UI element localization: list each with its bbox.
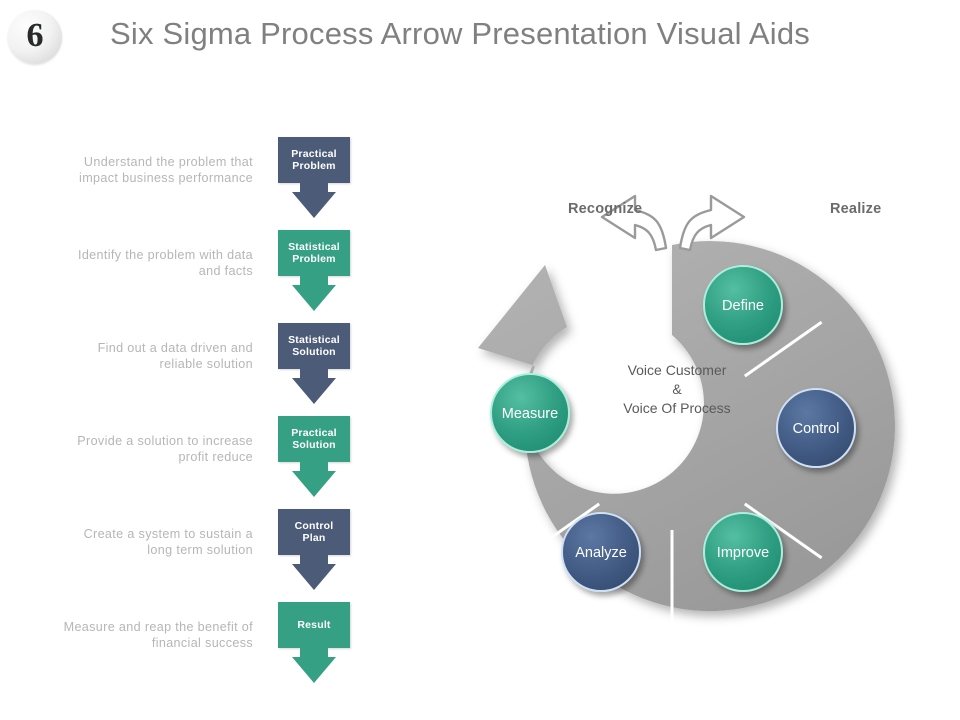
flow-arrow-label-5: Control Plan bbox=[278, 509, 350, 555]
cycle-node-label-measure: Measure bbox=[502, 406, 558, 422]
flow-description-4: Provide a solution to increase profit re… bbox=[58, 433, 253, 465]
flow-arrow-label-6: Result bbox=[278, 602, 350, 648]
flow-arrow-tail-6 bbox=[292, 657, 336, 683]
flow-description-1: Understand the problem that impact busin… bbox=[58, 154, 253, 186]
center-line-3: Voice Of Process bbox=[623, 400, 730, 416]
flow-label-line2-3: Solution bbox=[292, 346, 336, 358]
flow-label-line1-4: Practical bbox=[291, 427, 337, 439]
flow-arrow-control-plan[interactable]: Control Plan bbox=[278, 509, 350, 590]
flow-arrow-tail-3 bbox=[292, 378, 336, 404]
cycle-node-measure[interactable]: Measure bbox=[491, 374, 569, 452]
flow-arrow-label-4: Practical Solution bbox=[278, 416, 350, 462]
flow-arrow-tail-5 bbox=[292, 564, 336, 590]
flow-arrow-stem-3 bbox=[300, 369, 328, 378]
cycle-right-label: Realize bbox=[830, 201, 881, 217]
cycle-left-label: Recognize bbox=[568, 201, 642, 217]
cycle-node-define[interactable]: Define bbox=[704, 266, 782, 344]
flow-arrow-stem-5 bbox=[300, 555, 328, 564]
cycle-node-label-control: Control bbox=[793, 421, 840, 437]
center-line-1: Voice Customer bbox=[628, 362, 727, 378]
cycle-node-analyze[interactable]: Analyze bbox=[562, 513, 640, 591]
flow-arrow-tail-1 bbox=[292, 192, 336, 218]
flow-arrow-result[interactable]: Result bbox=[278, 602, 350, 683]
flow-label-line2-2: Problem bbox=[292, 253, 335, 265]
flow-arrow-stem-1 bbox=[300, 183, 328, 192]
cycle-node-label-analyze: Analyze bbox=[575, 545, 627, 561]
flow-label-line1-5: Control bbox=[295, 520, 334, 532]
cycle-node-label-improve: Improve bbox=[717, 545, 769, 561]
dmaic-cycle-diagram: Recognize Realize bbox=[430, 170, 960, 670]
flow-description-3: Find out a data driven and reliable solu… bbox=[58, 340, 253, 372]
cycle-node-control[interactable]: Control bbox=[777, 389, 855, 467]
flow-label-line1-1: Practical bbox=[291, 148, 337, 160]
cycle-node-label-define: Define bbox=[722, 298, 764, 314]
process-flow-column: Understand the problem that impact busin… bbox=[0, 0, 380, 720]
flow-arrow-label-3: Statistical Solution bbox=[278, 323, 350, 369]
flow-arrow-statistical-solution[interactable]: Statistical Solution bbox=[278, 323, 350, 404]
center-line-2: & bbox=[672, 381, 682, 397]
cycle-node-improve[interactable]: Improve bbox=[704, 513, 782, 591]
flow-arrow-stem-6 bbox=[300, 648, 328, 657]
flow-description-2: Identify the problem with data and facts bbox=[58, 247, 253, 279]
flow-arrow-statistical-problem[interactable]: Statistical Problem bbox=[278, 230, 350, 311]
flow-arrow-label-1: Practical Problem bbox=[278, 137, 350, 183]
flow-description-5: Create a system to sustain a long term s… bbox=[58, 526, 253, 558]
flow-arrow-practical-problem[interactable]: Practical Problem bbox=[278, 137, 350, 218]
flow-arrow-stem-2 bbox=[300, 276, 328, 285]
flow-arrow-stem-4 bbox=[300, 462, 328, 471]
flow-label-line1-3: Statistical bbox=[288, 334, 340, 346]
cycle-svg: Voice Customer & Voice Of Process Define… bbox=[430, 170, 960, 670]
flow-arrow-tail-4 bbox=[292, 471, 336, 497]
flow-label-line1-2: Statistical bbox=[288, 241, 340, 253]
flow-label-line2-5: Plan bbox=[303, 532, 326, 544]
flow-label-line2-1: Problem bbox=[292, 160, 335, 172]
flow-label-line1-6: Result bbox=[297, 619, 330, 632]
flow-arrow-practical-solution[interactable]: Practical Solution bbox=[278, 416, 350, 497]
flow-arrow-label-2: Statistical Problem bbox=[278, 230, 350, 276]
flow-label-line2-4: Solution bbox=[292, 439, 336, 451]
flow-description-6: Measure and reap the benefit of financia… bbox=[58, 619, 253, 651]
flow-arrow-tail-2 bbox=[292, 285, 336, 311]
